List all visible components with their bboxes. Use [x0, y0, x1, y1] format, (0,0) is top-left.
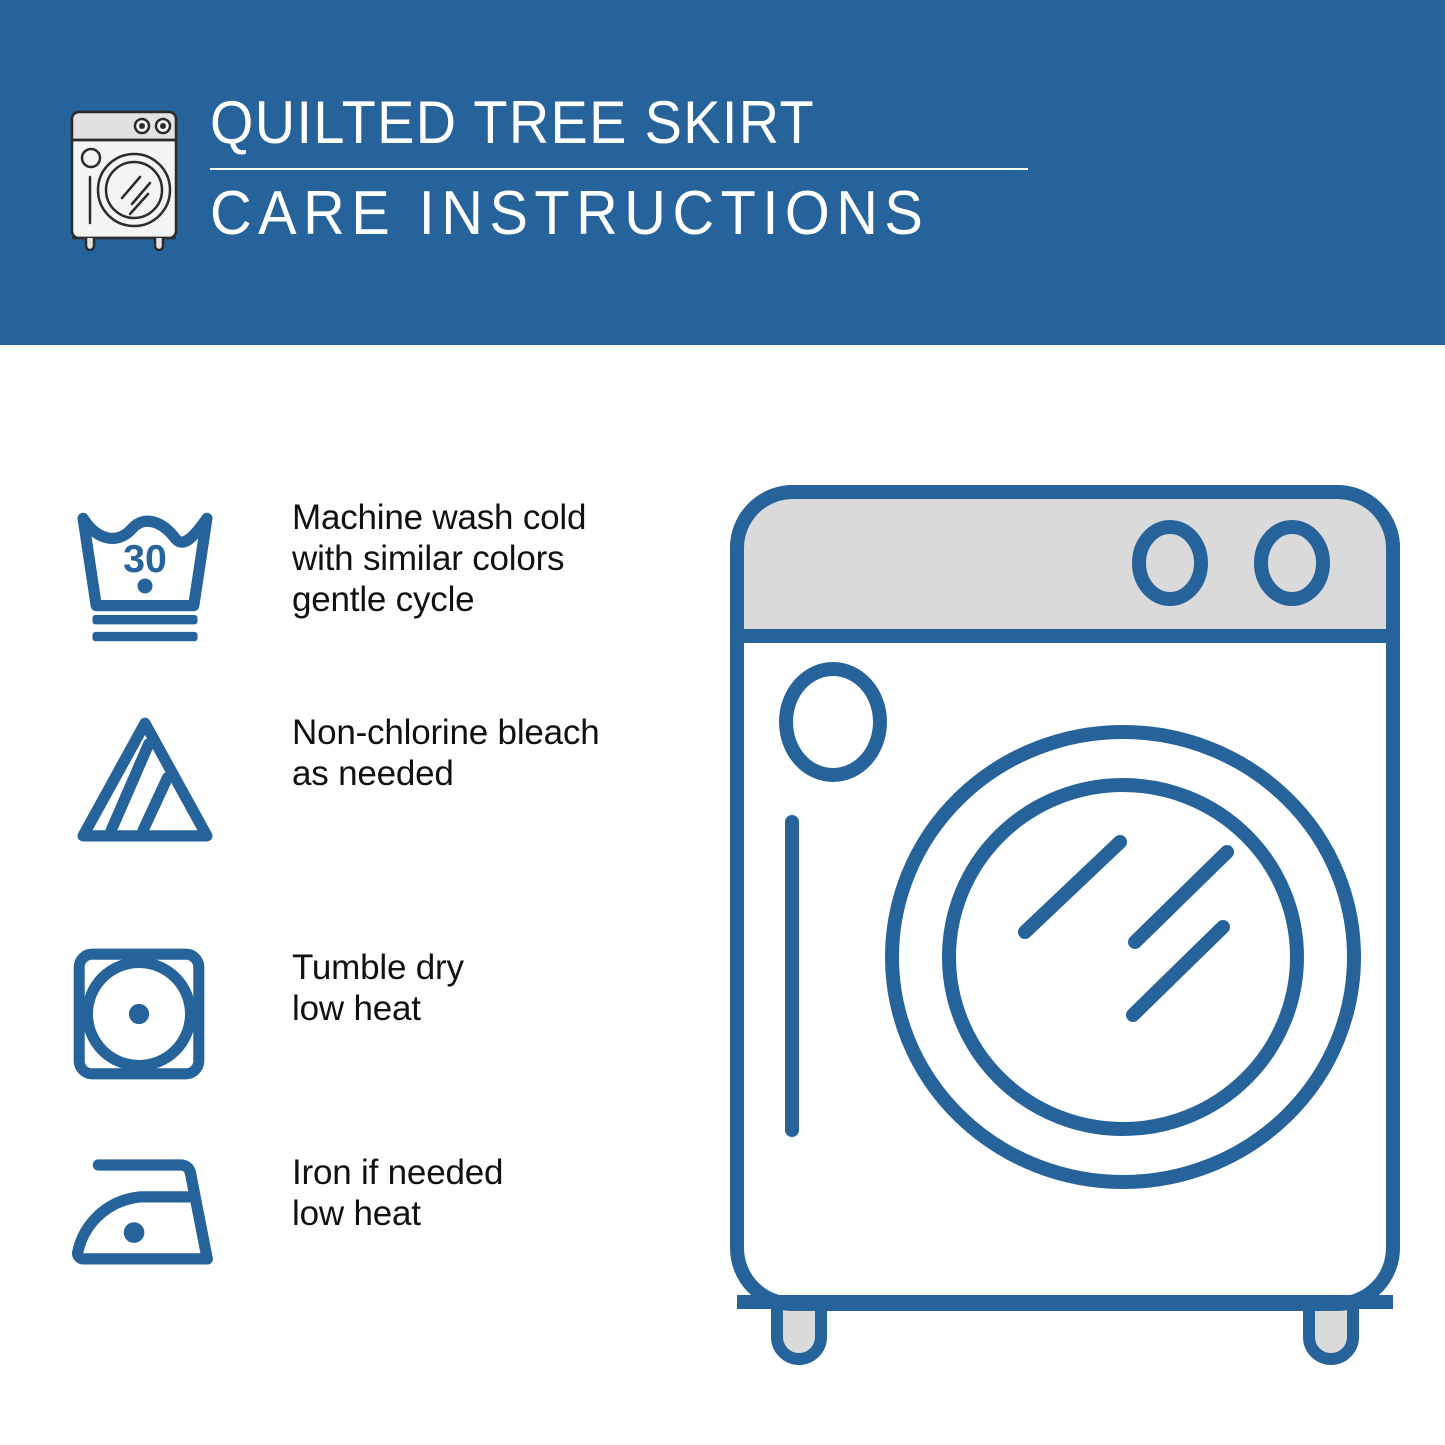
- care-text-line: Machine wash cold: [292, 497, 586, 538]
- page-subtitle: CARE INSTRUCTIONS: [210, 178, 982, 250]
- header-banner: QUILTED TREE SKIRT CARE INSTRUCTIONS: [0, 0, 1445, 345]
- non-chlorine-bleach-triangle-icon: [70, 710, 230, 851]
- tumble-dry-low-icon: [70, 945, 230, 1083]
- washing-machine-icon: [64, 106, 194, 251]
- care-row-tumble-dry: Tumble dry low heat: [70, 945, 690, 1083]
- care-text-bleach: Non-chlorine bleach as needed: [292, 710, 600, 794]
- knob-right: [1261, 527, 1323, 599]
- care-row-bleach: Non-chlorine bleach as needed: [70, 710, 690, 851]
- front-load-washing-machine-illustration: [715, 470, 1415, 1370]
- wash-tub-30-gentle-icon: 30: [70, 495, 230, 645]
- care-text-iron: Iron if needed low heat: [292, 1150, 503, 1234]
- door-latch: [786, 669, 880, 775]
- care-instructions-infographic: QUILTED TREE SKIRT CARE INSTRUCTIONS 30: [0, 0, 1445, 1445]
- wash-temperature-label: 30: [123, 537, 167, 581]
- care-text-line: Non-chlorine bleach: [292, 712, 600, 753]
- care-text-line: gentle cycle: [292, 579, 586, 620]
- title-divider: [210, 168, 1028, 170]
- page-title: QUILTED TREE SKIRT: [210, 88, 982, 158]
- care-row-machine-wash: 30 Machine wash cold with similar colors…: [70, 495, 690, 645]
- care-instruction-list: 30 Machine wash cold with similar colors…: [0, 345, 700, 1445]
- knob-left: [1139, 527, 1201, 599]
- care-text-machine-wash: Machine wash cold with similar colors ge…: [292, 495, 586, 620]
- care-text-tumble-dry: Tumble dry low heat: [292, 945, 464, 1029]
- iron-low-heat-icon: [70, 1150, 230, 1272]
- care-text-line: low heat: [292, 988, 464, 1029]
- care-text-line: low heat: [292, 1193, 503, 1234]
- header-title-block: QUILTED TREE SKIRT CARE INSTRUCTIONS: [210, 88, 1040, 250]
- care-text-line: with similar colors: [292, 538, 586, 579]
- header-content: QUILTED TREE SKIRT CARE INSTRUCTIONS: [58, 88, 1388, 263]
- care-text-line: Iron if needed: [292, 1152, 503, 1193]
- care-text-line: as needed: [292, 753, 600, 794]
- care-row-iron: Iron if needed low heat: [70, 1150, 690, 1272]
- care-text-line: Tumble dry: [292, 947, 464, 988]
